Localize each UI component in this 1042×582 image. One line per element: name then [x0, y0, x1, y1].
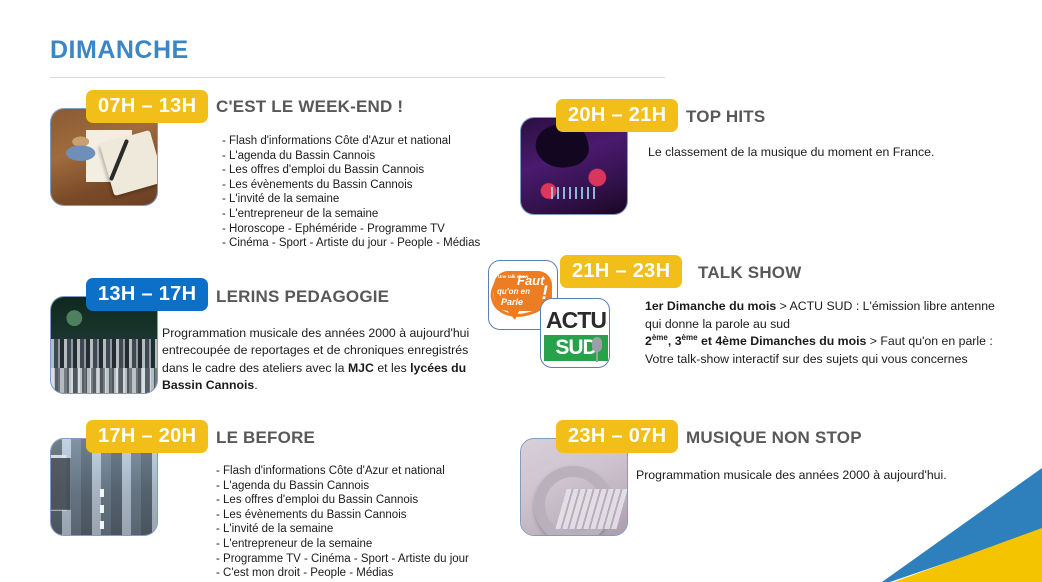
list-item: - Les évènements du Bassin Cannois	[216, 508, 469, 523]
list-item: - Les offres d'emploi du Bassin Cannois	[216, 493, 469, 508]
list-item: - L'agenda du Bassin Cannois	[216, 479, 469, 494]
program-time-badge[interactable]: 23H – 07H	[556, 420, 678, 453]
list-item: - Flash d'informations Côte d'Azur et na…	[216, 464, 469, 479]
program-title: MUSIQUE NON STOP	[686, 428, 862, 448]
logo-word-parle: Parle	[501, 297, 523, 307]
list-item: - Programme TV - Cinéma - Sport - Artist…	[216, 552, 469, 567]
list-item: - L'invité de la semaine	[216, 522, 469, 537]
logo-word-faut: Faut	[517, 273, 544, 288]
program-description: 1er Dimanche du mois > ACTU SUD : L'émis…	[645, 298, 997, 368]
program-title: LERINS PEDAGOGIE	[216, 287, 389, 307]
logo-word-quon-en: qu'on en	[497, 287, 530, 296]
program-time-badge[interactable]: 13H – 17H	[86, 278, 208, 311]
list-item: - Les évènements du Bassin Cannois	[222, 178, 480, 193]
corner-decoration	[882, 432, 1042, 582]
actu-sud-logo: ACTU SUD	[540, 298, 610, 368]
program-time-badge[interactable]: 17H – 20H	[86, 420, 208, 453]
program-time-badge[interactable]: 21H – 23H	[560, 255, 682, 288]
program-description: Programmation musicale des années 2000 à…	[162, 325, 472, 395]
microphone-icon	[590, 337, 604, 363]
list-item: - L'entrepreneur de la semaine	[222, 207, 480, 222]
list-item: - Les offres d'emploi du Bassin Cannois	[222, 163, 480, 178]
program-time-badge[interactable]: 07H – 13H	[86, 90, 208, 123]
program-title: LE BEFORE	[216, 428, 315, 448]
list-item: - L'agenda du Bassin Cannois	[222, 149, 480, 164]
program-time-badge[interactable]: 20H – 21H	[556, 99, 678, 132]
list-item: - Horoscope - Ephéméride - Programme TV	[222, 222, 480, 237]
logo-word-actu: ACTU	[544, 306, 608, 334]
list-item: - C'est mon droit - People - Médias	[216, 566, 469, 581]
list-item: - L'invité de la semaine	[222, 192, 480, 207]
title-divider	[50, 77, 665, 78]
list-item: - L'entrepreneur de la semaine	[216, 537, 469, 552]
program-item-list: - Flash d'informations Côte d'Azur et na…	[216, 464, 469, 581]
program-title: TALK SHOW	[698, 263, 801, 283]
program-title: C'EST LE WEEK-END !	[216, 97, 403, 117]
list-item: - Cinéma - Sport - Artiste du jour - Peo…	[222, 236, 480, 251]
program-title: TOP HITS	[686, 107, 765, 127]
page-title: DIMANCHE	[50, 36, 189, 65]
program-description: Le classement de la musique du moment en…	[648, 144, 1008, 161]
list-item: - Flash d'informations Côte d'Azur et na…	[222, 134, 480, 149]
program-item-list: - Flash d'informations Côte d'Azur et na…	[222, 134, 480, 251]
